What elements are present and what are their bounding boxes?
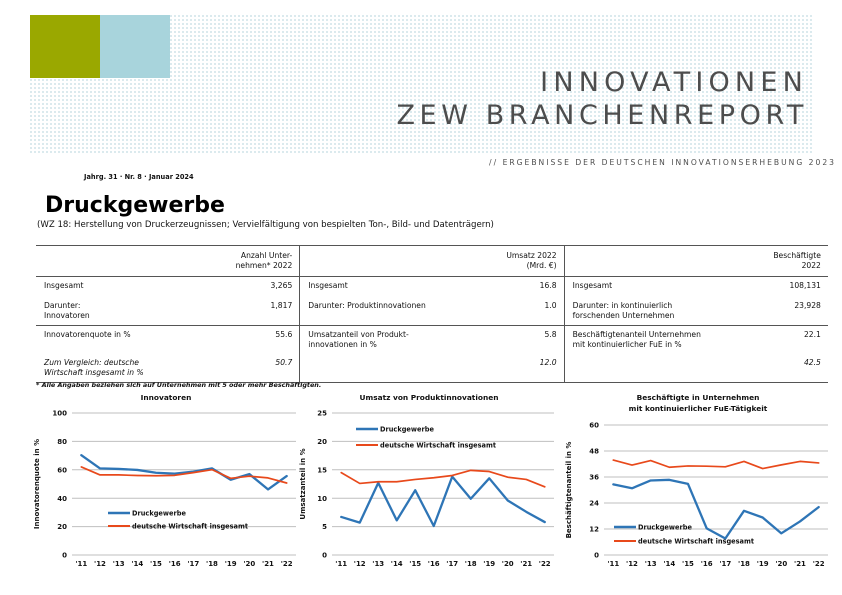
row-label: Insgesamt [573, 281, 613, 290]
svg-text:0: 0 [322, 552, 327, 560]
row-label: Zum Vergleich: deutsche [44, 358, 139, 367]
table-cell: 42.5 [564, 354, 828, 383]
svg-text:60: 60 [589, 422, 599, 430]
svg-text:'19: '19 [225, 560, 237, 568]
chart-canvas-1: 020406080100'11'12'13'14'15'16'17'18'19'… [30, 403, 302, 575]
table-cell: Insgesamt 108,131 [564, 277, 828, 298]
row-label: Insgesamt [308, 281, 348, 290]
table-cell: Beschäftigtenanteil Unternehmen mit kont… [564, 326, 828, 355]
svg-text:'18: '18 [465, 560, 477, 568]
svg-text:'18: '18 [206, 560, 218, 568]
svg-text:Druckgewerbe: Druckgewerbe [380, 426, 434, 434]
svg-text:40: 40 [57, 495, 67, 503]
page-title: Druckgewerbe [45, 193, 225, 218]
chart-innovatoren: Innovatoren 020406080100'11'12'13'14'15'… [30, 392, 302, 582]
svg-text:'21: '21 [520, 560, 532, 568]
svg-text:5: 5 [322, 524, 327, 532]
svg-text:10: 10 [317, 495, 327, 503]
kpi-table: Anzahl Unter- nehmen* 2022 Umsatz 2022 (… [36, 245, 826, 383]
svg-text:'11: '11 [607, 560, 619, 568]
svg-text:'22: '22 [813, 560, 825, 568]
svg-text:0: 0 [62, 552, 67, 560]
svg-text:'18: '18 [738, 560, 750, 568]
svg-text:'21: '21 [262, 560, 274, 568]
svg-text:Druckgewerbe: Druckgewerbe [132, 510, 186, 518]
header-subline: // ERGEBNISSE DER DEUTSCHEN INNOVATIONSE… [489, 158, 836, 167]
svg-text:'15: '15 [682, 560, 694, 568]
svg-text:'12: '12 [626, 560, 638, 568]
zew-logo [30, 15, 170, 78]
table-header-cell-1: Anzahl Unter- nehmen* 2022 [36, 246, 300, 277]
svg-text:'16: '16 [428, 560, 440, 568]
svg-text:12: 12 [589, 526, 599, 534]
header-title-block: INNOVATIONEN ZEW BRANCHENREPORT [396, 67, 808, 133]
svg-text:36: 36 [589, 474, 599, 482]
svg-text:'22: '22 [281, 560, 293, 568]
svg-text:deutsche Wirtschaft insgesamt: deutsche Wirtschaft insgesamt [132, 523, 248, 531]
row-value: 1,817 [265, 301, 293, 310]
svg-text:'15: '15 [150, 560, 162, 568]
svg-text:'14: '14 [663, 560, 675, 568]
table-header-2-line1: Umsatz 2022 [506, 251, 556, 260]
svg-text:'17: '17 [719, 560, 731, 568]
svg-text:20: 20 [317, 438, 327, 446]
svg-text:'12: '12 [354, 560, 366, 568]
svg-text:'11: '11 [75, 560, 87, 568]
header-title-line2: ZEW BRANCHENREPORT [396, 100, 808, 133]
svg-text:'20: '20 [502, 560, 514, 568]
svg-text:80: 80 [57, 438, 67, 446]
row-value: 1.0 [539, 301, 557, 310]
table-cell: 12.0 [300, 354, 564, 383]
svg-text:'13: '13 [113, 560, 125, 568]
table-cell: Darunter: Produktinnovationen 1.0 [300, 297, 564, 326]
table-cell: Darunter: Innovatoren 1,817 [36, 297, 300, 326]
chart-title: Beschäftigte in Unternehmen [562, 392, 834, 403]
svg-text:'16: '16 [701, 560, 713, 568]
row-label: Darunter: [44, 301, 80, 310]
table-header-2-line2: (Mrd. €) [527, 261, 557, 270]
svg-text:'17: '17 [446, 560, 458, 568]
row-value: 42.5 [798, 358, 821, 367]
row-label: Innovatorenquote in % [44, 330, 131, 339]
table-cell: Umsatzanteil von Produkt- innovationen i… [300, 326, 564, 355]
svg-text:'13: '13 [372, 560, 384, 568]
row-label-2: Wirtschaft insgesamt in % [44, 368, 144, 377]
row-label-2: mit kontinuierlicher FuE in % [573, 340, 682, 349]
svg-text:'15: '15 [409, 560, 421, 568]
chart-canvas-2: 0510152025'11'12'13'14'15'16'17'18'19'20… [298, 403, 560, 575]
table-header-1-line1: Anzahl Unter- [241, 251, 292, 260]
table-row: Insgesamt 3,265 Insgesamt 16.8 Insgesamt… [36, 277, 828, 298]
header-title-line1: INNOVATIONEN [396, 67, 808, 100]
chart-umsatz-produktinnovationen: Umsatz von Produktinnovationen 051015202… [298, 392, 560, 582]
table-cell: Innovatorenquote in % 55.6 [36, 326, 300, 355]
svg-text:60: 60 [57, 467, 67, 475]
chart-canvas-3: 01224364860'11'12'13'14'15'16'17'18'19'2… [562, 415, 834, 575]
row-value: 55.6 [269, 330, 292, 339]
table-header-3-line2: 2022 [802, 261, 821, 270]
table-header-row: Anzahl Unter- nehmen* 2022 Umsatz 2022 (… [36, 246, 828, 277]
svg-text:'19: '19 [757, 560, 769, 568]
svg-text:'19: '19 [483, 560, 495, 568]
sector-description: (WZ 18: Herstellung von Druckerzeugnisse… [37, 220, 494, 230]
chart-title-line2: mit kontinuierlicher FuE-Tätigkeit [562, 403, 834, 414]
svg-text:25: 25 [317, 410, 327, 418]
svg-text:deutsche Wirtschaft insgesamt: deutsche Wirtschaft insgesamt [380, 442, 496, 450]
row-label: Darunter: Produktinnovationen [308, 301, 425, 310]
row-value: 12.0 [534, 358, 557, 367]
chart-title: Innovatoren [30, 392, 302, 403]
svg-text:'22: '22 [539, 560, 551, 568]
svg-text:Innovatorenquote in %: Innovatorenquote in % [33, 439, 41, 529]
row-value: 23,928 [788, 301, 821, 310]
row-label: Umsatzanteil von Produkt- [308, 330, 408, 339]
row-value: 22.1 [798, 330, 821, 339]
table-footnote: * Alle Angaben beziehen sich auf Unterne… [36, 381, 321, 389]
svg-text:'14: '14 [391, 560, 403, 568]
chart-beschaeftigte-fue: Beschäftigte in Unternehmen mit kontinui… [562, 392, 834, 582]
row-value: 16.8 [534, 281, 557, 290]
logo-blue-square [100, 15, 170, 78]
svg-text:Druckgewerbe: Druckgewerbe [638, 523, 692, 531]
logo-green-square [30, 15, 100, 78]
svg-text:'20: '20 [243, 560, 255, 568]
row-label: Insgesamt [44, 281, 84, 290]
table-cell: Insgesamt 16.8 [300, 277, 564, 298]
table-row: Innovatorenquote in % 55.6 Umsatzanteil … [36, 326, 828, 355]
svg-text:'13: '13 [645, 560, 657, 568]
svg-text:'17: '17 [187, 560, 199, 568]
table-header-cell-3: Beschäftigte 2022 [564, 246, 828, 277]
svg-text:100: 100 [52, 410, 67, 418]
table-cell: Darunter: in kontinuierlich forschenden … [564, 297, 828, 326]
svg-text:'16: '16 [169, 560, 181, 568]
svg-text:'11: '11 [335, 560, 347, 568]
row-label: Darunter: in kontinuierlich [573, 301, 673, 310]
svg-text:24: 24 [589, 500, 599, 508]
svg-text:15: 15 [317, 467, 327, 475]
svg-text:'12: '12 [94, 560, 106, 568]
table-cell: Zum Vergleich: deutsche Wirtschaft insge… [36, 354, 300, 383]
row-value: 108,131 [783, 281, 820, 290]
svg-text:deutsche Wirtschaft insgesamt: deutsche Wirtschaft insgesamt [638, 537, 754, 545]
table-header-3-line1: Beschäftigte [773, 251, 821, 260]
table-row: Darunter: Innovatoren 1,817 Darunter: Pr… [36, 297, 828, 326]
table-cell: Insgesamt 3,265 [36, 277, 300, 298]
svg-text:'14: '14 [131, 560, 143, 568]
svg-text:48: 48 [589, 448, 599, 456]
svg-text:20: 20 [57, 524, 67, 532]
row-value: 5.8 [539, 330, 557, 339]
table-header-1-line2: nehmen* 2022 [236, 261, 293, 270]
row-label-2: Innovatoren [44, 311, 90, 320]
row-value: 3,265 [265, 281, 293, 290]
table-row: Zum Vergleich: deutsche Wirtschaft insge… [36, 354, 828, 383]
svg-text:Umsatzanteil in %: Umsatzanteil in % [299, 449, 307, 520]
svg-text:'20: '20 [775, 560, 787, 568]
svg-text:Beschäftigtenanteil in %: Beschäftigtenanteil in % [565, 442, 573, 539]
row-label-2: innovationen in % [308, 340, 377, 349]
issue-line: Jahrg. 31 · Nr. 8 · Januar 2024 [84, 173, 194, 181]
svg-text:'21: '21 [794, 560, 806, 568]
report-header: INNOVATIONEN ZEW BRANCHENREPORT [30, 15, 812, 155]
chart-title: Umsatz von Produktinnovationen [298, 392, 560, 403]
table-header-cell-2: Umsatz 2022 (Mrd. €) [300, 246, 564, 277]
row-label-2: forschenden Unternehmen [573, 311, 675, 320]
row-label: Beschäftigtenanteil Unternehmen [573, 330, 701, 339]
svg-text:0: 0 [594, 552, 599, 560]
row-value: 50.7 [269, 358, 292, 367]
